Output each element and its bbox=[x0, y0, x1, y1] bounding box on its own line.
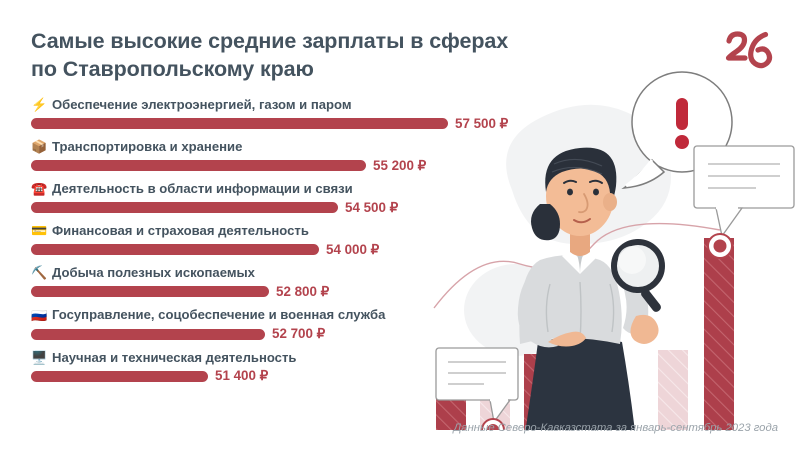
category-label: Научная и техническая деятельность bbox=[52, 351, 296, 364]
bar-value-label: 52 700 ₽ bbox=[272, 327, 325, 340]
chart-row-label: 💳 Финансовая и страховая деятельность bbox=[31, 224, 501, 237]
chart-row-label: ⛏️ Добыча полезных ископаемых bbox=[31, 266, 501, 279]
chart-row-label: ⚡ Обеспечение электроэнергией, газом и п… bbox=[31, 98, 501, 111]
bar-chart: ⚡ Обеспечение электроэнергией, газом и п… bbox=[31, 98, 501, 393]
bar-fill bbox=[31, 202, 338, 213]
pickaxe-icon: ⛏️ bbox=[31, 266, 47, 279]
bar-value-label: 51 400 ₽ bbox=[215, 369, 268, 382]
magnifying-glass-icon bbox=[614, 242, 663, 313]
chart-row-label: 📦 Транспортировка и хранение bbox=[31, 140, 501, 153]
lightning-bolt-icon: ⚡ bbox=[31, 98, 47, 111]
woman-with-magnifier-icon bbox=[518, 148, 663, 430]
package-box-icon: 📦 bbox=[31, 140, 47, 153]
category-label: Обеспечение электроэнергией, газом и пар… bbox=[52, 98, 352, 111]
credit-card-icon: 💳 bbox=[31, 224, 47, 237]
bar-value-label: 57 500 ₽ bbox=[455, 117, 508, 130]
chart-row: 📦 Транспортировка и хранение 55 200 ₽ bbox=[31, 140, 501, 172]
category-label: Госуправление, соцобеспечение и военная … bbox=[52, 308, 385, 321]
bar-fill bbox=[31, 371, 208, 382]
bar-line: 55 200 ₽ bbox=[31, 159, 501, 172]
bar-line: 54 500 ₽ bbox=[31, 201, 501, 214]
data-source-note: Данные Северо-Кавказстата за январь-сент… bbox=[453, 422, 778, 434]
computer-monitor-icon: 🖥️ bbox=[31, 351, 47, 364]
bar-value-label: 55 200 ₽ bbox=[373, 159, 426, 172]
bar-line: 54 000 ₽ bbox=[31, 243, 501, 256]
chart-row: 🇷🇺 Госуправление, соцобеспечение и военн… bbox=[31, 308, 501, 340]
bar-value-label: 54 000 ₽ bbox=[326, 243, 379, 256]
category-label: Транспортировка и хранение bbox=[52, 140, 242, 153]
category-label: Деятельность в области информации и связ… bbox=[52, 182, 353, 195]
chart-row: ⚡ Обеспечение электроэнергией, газом и п… bbox=[31, 98, 501, 130]
bar-line: 52 700 ₽ bbox=[31, 328, 501, 341]
chart-row: ☎️ Деятельность в области информации и с… bbox=[31, 182, 501, 214]
brand-26-logo-icon bbox=[720, 28, 776, 74]
bar-fill bbox=[31, 286, 269, 297]
bar-fill bbox=[31, 118, 448, 129]
infographic-canvas: Самые высокие средние зарплаты в сферах … bbox=[0, 0, 800, 451]
chart-row: 🖥️ Научная и техническая деятельность 51… bbox=[31, 351, 501, 383]
chart-row-label: 🖥️ Научная и техническая деятельность bbox=[31, 351, 501, 364]
bar-value-label: 54 500 ₽ bbox=[345, 201, 398, 214]
category-label: Добыча полезных ископаемых bbox=[52, 266, 255, 279]
russia-flag-icon: 🇷🇺 bbox=[31, 309, 47, 322]
bar-line: 57 500 ₽ bbox=[31, 117, 501, 130]
telephone-icon: ☎️ bbox=[31, 182, 47, 195]
bar-fill bbox=[31, 160, 366, 171]
page-title: Самые высокие средние зарплаты в сферах … bbox=[31, 28, 631, 83]
header: Самые высокие средние зарплаты в сферах … bbox=[31, 28, 631, 83]
bar-value-label: 52 800 ₽ bbox=[276, 285, 329, 298]
bar-line: 52 800 ₽ bbox=[31, 285, 501, 298]
bar-fill bbox=[31, 329, 265, 340]
category-label: Финансовая и страховая деятельность bbox=[52, 224, 309, 237]
chart-row-label: ☎️ Деятельность в области информации и с… bbox=[31, 182, 501, 195]
chart-row: 💳 Финансовая и страховая деятельность 54… bbox=[31, 224, 501, 256]
tooltip-card-icon bbox=[694, 146, 794, 258]
chart-row-label: 🇷🇺 Госуправление, соцобеспечение и военн… bbox=[31, 308, 501, 321]
bar-fill bbox=[31, 244, 319, 255]
chart-row: ⛏️ Добыча полезных ископаемых 52 800 ₽ bbox=[31, 266, 501, 298]
exclamation-speech-bubble-icon bbox=[624, 72, 732, 188]
bar-line: 51 400 ₽ bbox=[31, 370, 501, 383]
